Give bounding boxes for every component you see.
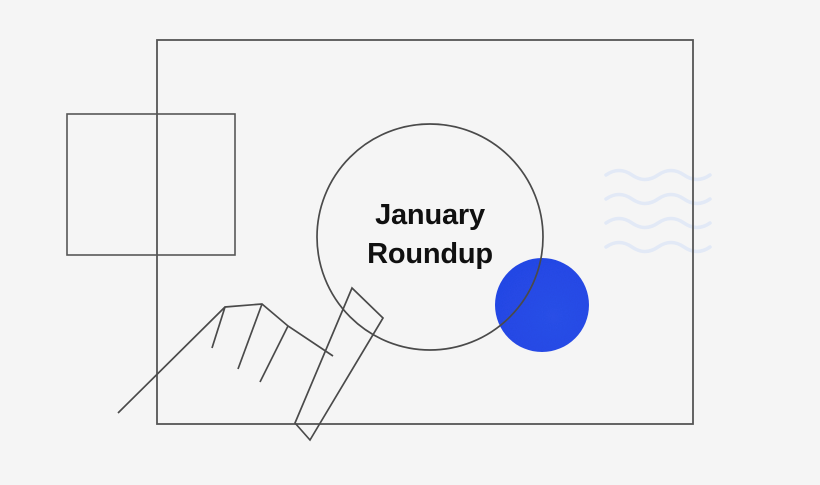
- mountain-ridge: [118, 304, 333, 413]
- magnifier-handle: [295, 288, 383, 440]
- wave-line-1: [606, 171, 710, 180]
- wave-line-3: [606, 219, 710, 228]
- mountain-slope-2: [238, 304, 262, 369]
- wave-lines-group: [606, 171, 710, 252]
- mountain-slope-3: [260, 326, 288, 382]
- wave-line-4: [606, 243, 710, 252]
- blue-accent-circle: [495, 258, 589, 352]
- small-square: [67, 114, 235, 255]
- illustration-canvas: January Roundup: [0, 0, 820, 485]
- vector-artwork: [0, 0, 820, 485]
- wave-line-2: [606, 195, 710, 204]
- outer-rectangle: [157, 40, 693, 424]
- mountain-line-art: [118, 304, 333, 413]
